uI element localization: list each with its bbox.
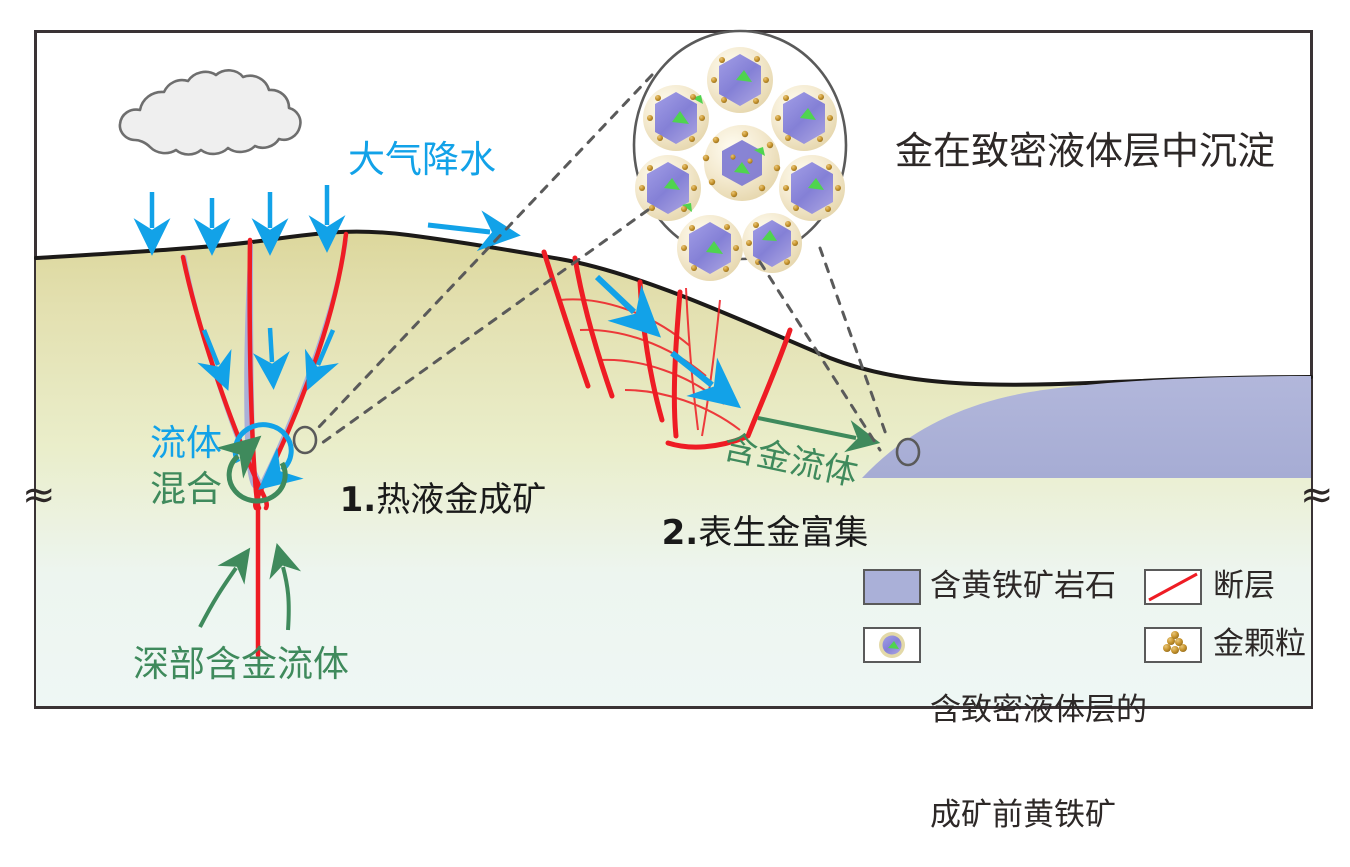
label-deep-au-fluid: 深部含金流体 bbox=[133, 645, 349, 685]
pyrite-grain bbox=[643, 85, 709, 151]
label-inset-title: 金在致密液体层中沉淀 bbox=[895, 130, 1275, 173]
legend-label-pre-ore-pyrite-line1: 含致密液体层的 bbox=[930, 693, 1147, 728]
legend-swatch-pre-ore-pyrite bbox=[864, 628, 920, 662]
pyrite-grain bbox=[771, 85, 837, 151]
step-2-number: 2. bbox=[662, 513, 699, 553]
legend-swatch-gold-particle bbox=[1145, 628, 1201, 662]
pyrite-grain bbox=[779, 155, 845, 221]
infiltration-arrow-2 bbox=[270, 328, 272, 362]
cross-section-svg: ≈ ≈ bbox=[0, 0, 1350, 738]
legend-label-gold-particle: 金颗粒 bbox=[1213, 627, 1306, 662]
legend-label-pyrite-rock: 含黄铁矿岩石 bbox=[930, 569, 1116, 604]
legend-label-fault: 断层 bbox=[1213, 569, 1275, 604]
step-2-text: 表生金富集 bbox=[698, 513, 868, 553]
label-fluid: 流体 bbox=[150, 424, 222, 464]
pyrite-grain bbox=[707, 47, 773, 113]
figure-canvas: ≈ ≈ 大气降水 金在致密液体层中沉淀 流体 混合 1.热液金成矿 2.表生金富… bbox=[0, 0, 1350, 738]
label-meteoric-water: 大气降水 bbox=[348, 139, 496, 180]
legend-label-pre-ore-pyrite: 含致密液体层的 成矿前黄铁矿 bbox=[930, 624, 1147, 867]
legend-swatch-fault bbox=[1145, 570, 1201, 604]
legend-label-pre-ore-pyrite-line2: 成矿前黄铁矿 bbox=[930, 798, 1147, 833]
step-1-text: 热液金成矿 bbox=[376, 480, 546, 520]
pyrite-grain bbox=[677, 215, 743, 281]
label-mixing: 混合 bbox=[150, 470, 222, 510]
step-1-number: 1. bbox=[340, 480, 377, 520]
break-symbol-left: ≈ bbox=[22, 472, 56, 518]
legend-swatch-pyrite-rock bbox=[864, 570, 920, 604]
pyrite-grain bbox=[742, 213, 802, 273]
break-symbol-right: ≈ bbox=[1300, 472, 1334, 518]
label-step-1: 1.热液金成矿 bbox=[318, 443, 546, 519]
